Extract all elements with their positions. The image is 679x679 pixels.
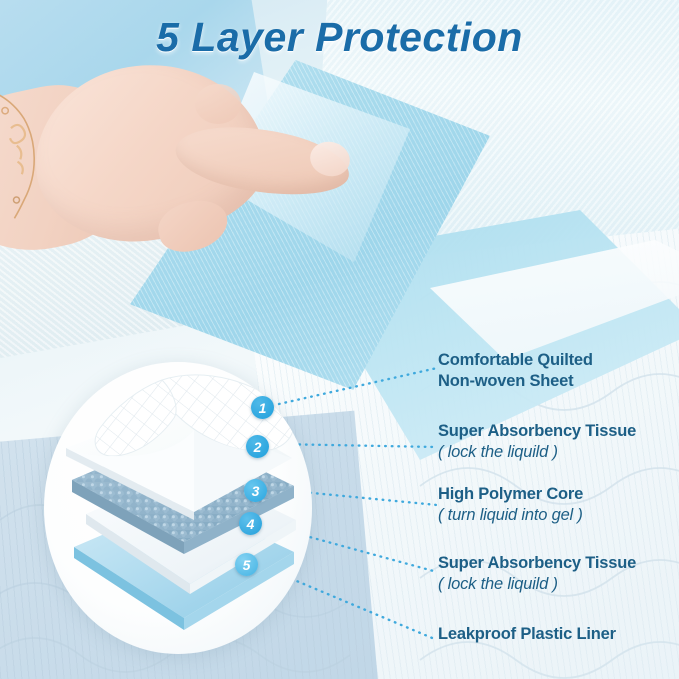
layer-label-1-line1: Comfortable Quilted — [438, 350, 593, 371]
layer-label-4-line1: Super Absorbency Tissue — [438, 553, 636, 574]
layer-label-4: Super Absorbency Tissue ( lock the liqui… — [438, 553, 636, 595]
layer-badge-1[interactable]: 1 — [251, 396, 274, 419]
layer-label-3: High Polymer Core ( turn liquid into gel… — [438, 484, 583, 526]
knuckle — [195, 84, 241, 124]
page-title: 5 Layer Protection — [0, 14, 679, 61]
infographic-canvas: 5 Layer Protection — [0, 0, 679, 679]
layer-label-4-note: ( lock the liquild ) — [438, 574, 636, 595]
layer-label-2-note: ( lock the liquild ) — [438, 442, 636, 463]
layer-badge-5[interactable]: 5 — [235, 553, 258, 576]
layer-label-5-line1: Leakproof Plastic Liner — [438, 624, 616, 645]
layer-badge-4[interactable]: 4 — [239, 512, 262, 535]
layer-label-1: Comfortable Quilted Non-woven Sheet — [438, 350, 593, 391]
layer-label-1-line2: Non-woven Sheet — [438, 371, 593, 392]
layer-badge-3[interactable]: 3 — [244, 479, 267, 502]
layer-label-3-line1: High Polymer Core — [438, 484, 583, 505]
layer-label-2: Super Absorbency Tissue ( lock the liqui… — [438, 421, 636, 463]
layer-label-2-line1: Super Absorbency Tissue — [438, 421, 636, 442]
layer-badge-2[interactable]: 2 — [246, 435, 269, 458]
layer-label-5: Leakproof Plastic Liner — [438, 624, 616, 645]
hand-holding-pad — [0, 70, 340, 320]
layer-label-3-note: ( turn liquid into gel ) — [438, 505, 583, 526]
